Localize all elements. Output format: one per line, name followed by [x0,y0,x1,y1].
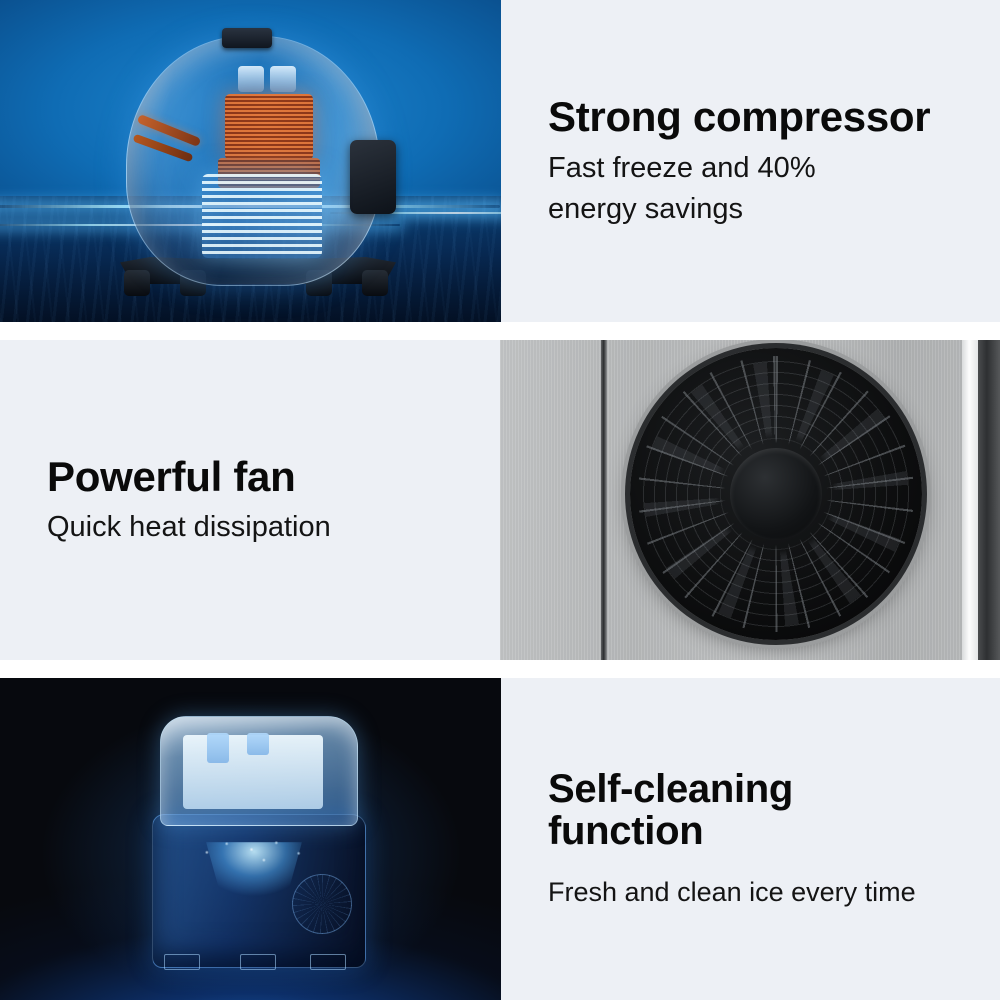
feature-row-self-cleaning: Self-cleaning function Fresh and clean i… [0,678,1000,1000]
ice-maker-unit [152,716,364,966]
ice-maker-feet [158,954,358,970]
ice-maker-foot [310,954,346,970]
compressor-text-block: Strong compressor Fast freeze and 40% en… [501,0,1000,322]
piston-cylinder [270,66,296,92]
fan-text-block: Powerful fan Quick heat dissipation [0,340,500,660]
ice-maker-lid [160,716,358,826]
piston-cylinder [238,66,264,92]
compressor-top-clamp [222,28,272,48]
self-cleaning-headline-1: Self-cleaning [548,769,1000,811]
feature-row-fan: Powerful fan Quick heat dissipation [0,340,1000,660]
fan-grille-icon [630,348,922,640]
motor-winding [225,94,313,160]
terminal-box [350,140,396,214]
ice-maker-foot [164,954,200,970]
ice-maker-fan-icon [292,874,352,934]
panel-dark-edge [978,340,1000,660]
compressor-headline: Strong compressor [548,95,1000,139]
ice-maker-image [0,678,501,1000]
ice-maker-tab [207,733,229,763]
fan-image [500,340,1000,660]
panel-seam [601,340,607,660]
ice-maker-foot [240,954,276,970]
self-cleaning-headline-2: function [548,811,1000,853]
panel-highlight-strip [962,340,978,660]
infographic-sheet: Strong compressor Fast freeze and 40% en… [0,0,1000,1000]
compressor-image [0,0,501,322]
fan-hub [730,448,822,540]
compressor-unit [118,22,388,290]
fan-headline: Powerful fan [47,455,500,499]
fan-subline-1: Quick heat dissipation [47,509,500,546]
water-droplets [192,838,316,886]
feature-row-compressor: Strong compressor Fast freeze and 40% en… [0,0,1000,322]
compressor-subline-1: Fast freeze and 40% [548,150,1000,187]
self-cleaning-text-block: Self-cleaning function Fresh and clean i… [501,678,1000,1000]
compressor-foot [124,270,150,296]
self-cleaning-subline-1: Fresh and clean ice every time [548,875,1000,909]
cooling-fins [202,174,322,258]
compressor-foot [362,270,388,296]
compressor-subline-2: energy savings [548,191,1000,228]
ice-maker-tab [247,733,269,755]
